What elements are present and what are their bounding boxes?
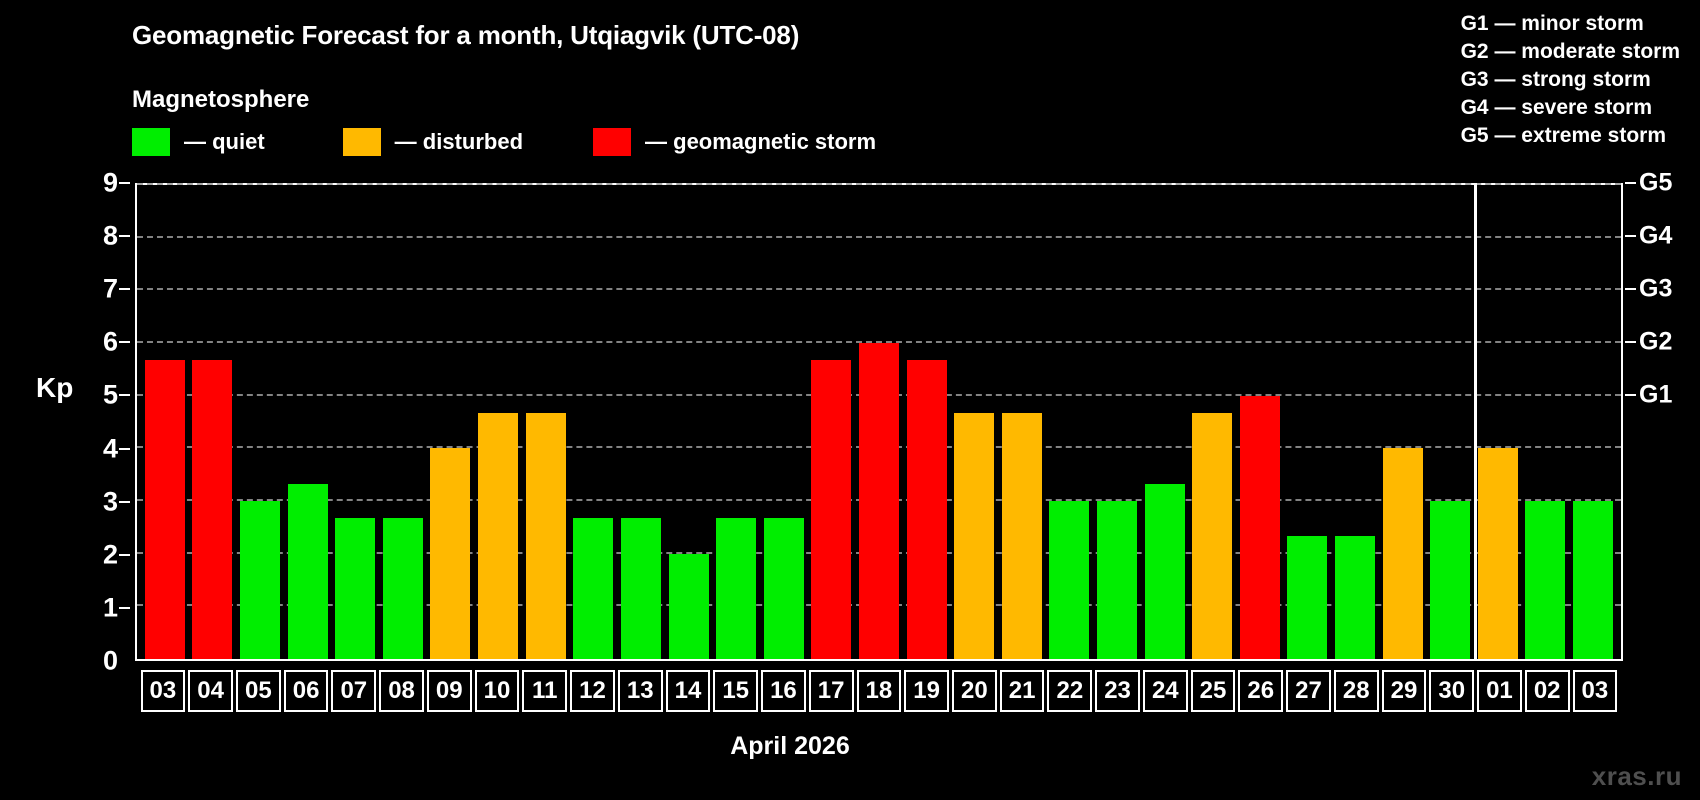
bar-slot[interactable] — [1569, 185, 1617, 659]
y-tick-label-4: 4 — [103, 433, 118, 464]
bar-19-storm[interactable] — [907, 360, 947, 659]
date-label-16[interactable]: 19 — [904, 670, 949, 712]
legend-swatch-disturbed-icon — [343, 128, 381, 156]
bar-18-storm[interactable] — [859, 343, 899, 659]
bar-29-disturbed[interactable] — [1383, 448, 1423, 659]
bar-05-quiet[interactable] — [240, 501, 280, 659]
bar-06-quiet[interactable] — [288, 484, 328, 659]
date-label-3[interactable]: 06 — [284, 670, 329, 712]
bar-25-disturbed[interactable] — [1192, 413, 1232, 659]
bar-slot[interactable] — [331, 185, 379, 659]
y-tick-label-0: 0 — [103, 646, 118, 677]
date-label-28[interactable]: 01 — [1477, 670, 1522, 712]
date-label-0[interactable]: 03 — [141, 670, 186, 712]
bar-slot[interactable] — [808, 185, 856, 659]
y-tick-mark-4 — [119, 448, 130, 450]
bar-slot[interactable] — [1188, 185, 1236, 659]
watermark: xras.ru — [1592, 761, 1682, 792]
bar-slot[interactable] — [1522, 185, 1570, 659]
g-tick-mark-G2 — [1625, 341, 1636, 343]
legend-label-storm: — geomagnetic storm — [645, 129, 876, 155]
legend-label-quiet: — quiet — [184, 129, 265, 155]
g-tick-mark-G4 — [1625, 235, 1636, 237]
bar-12-quiet[interactable] — [573, 518, 613, 659]
g-scale-legend: G1 — minor storm G2 — moderate storm G3 … — [1461, 10, 1680, 150]
bar-08-quiet[interactable] — [383, 518, 423, 659]
legend-item-quiet: — quiet — [132, 128, 265, 156]
bar-15-quiet[interactable] — [716, 518, 756, 659]
bar-13-quiet[interactable] — [621, 518, 661, 659]
bar-slot[interactable] — [760, 185, 808, 659]
magnetosphere-legend: Magnetosphere — quiet — disturbed — geom… — [132, 86, 876, 156]
y-tick-label-5: 5 — [103, 380, 118, 411]
g-tick-label-G3: G3 — [1639, 275, 1672, 304]
bar-slot[interactable] — [855, 185, 903, 659]
bar-27-quiet[interactable] — [1287, 536, 1327, 659]
bar-slot[interactable] — [474, 185, 522, 659]
g-tick-mark-G5 — [1625, 182, 1636, 184]
bar-slot[interactable] — [1236, 185, 1284, 659]
bar-slot[interactable] — [522, 185, 570, 659]
legend-item-storm: — geomagnetic storm — [593, 128, 876, 156]
bar-slot[interactable] — [141, 185, 189, 659]
y-tick-label-7: 7 — [103, 274, 118, 305]
plot-area — [135, 183, 1623, 661]
bar-series — [137, 185, 1621, 659]
date-label-9[interactable]: 12 — [570, 670, 615, 712]
date-label-11[interactable]: 14 — [666, 670, 711, 712]
bar-slot[interactable] — [1046, 185, 1094, 659]
bar-slot[interactable] — [1093, 185, 1141, 659]
y-tick-label-9: 9 — [103, 168, 118, 199]
y-tick-label-2: 2 — [103, 539, 118, 570]
bar-02-quiet[interactable] — [1525, 501, 1565, 659]
bar-01-disturbed[interactable] — [1478, 448, 1518, 659]
date-label-26[interactable]: 29 — [1382, 670, 1427, 712]
date-label-10[interactable]: 13 — [618, 670, 663, 712]
g-scale-line-g1: G1 — minor storm — [1461, 10, 1680, 38]
date-label-20[interactable]: 23 — [1095, 670, 1140, 712]
bar-slot[interactable] — [1474, 185, 1522, 659]
y-tick-label-8: 8 — [103, 221, 118, 252]
y-tick-label-6: 6 — [103, 327, 118, 358]
bar-slot[interactable] — [1284, 185, 1332, 659]
date-label-22[interactable]: 25 — [1191, 670, 1236, 712]
legend-items: — quiet — disturbed — geomagnetic storm — [132, 128, 876, 156]
bar-slot[interactable] — [1331, 185, 1379, 659]
date-label-21[interactable]: 24 — [1143, 670, 1188, 712]
y-tick-mark-2 — [119, 554, 130, 556]
date-label-19[interactable]: 22 — [1047, 670, 1092, 712]
y-tick-mark-7 — [119, 288, 130, 290]
date-label-12[interactable]: 15 — [713, 670, 758, 712]
date-label-5[interactable]: 08 — [379, 670, 424, 712]
y-tick-mark-9 — [119, 182, 130, 184]
bar-slot[interactable] — [1141, 185, 1189, 659]
g-tick-label-G4: G4 — [1639, 222, 1672, 251]
bar-slot[interactable] — [950, 185, 998, 659]
date-label-17[interactable]: 20 — [952, 670, 997, 712]
legend-item-disturbed: — disturbed — [343, 128, 523, 156]
month-divider — [1474, 183, 1477, 661]
bar-26-storm[interactable] — [1240, 396, 1280, 659]
date-label-29[interactable]: 02 — [1525, 670, 1570, 712]
g-tick-label-G5: G5 — [1639, 169, 1672, 198]
bar-07-quiet[interactable] — [335, 518, 375, 659]
y-tick-mark-6 — [119, 341, 130, 343]
date-label-24[interactable]: 27 — [1286, 670, 1331, 712]
bar-slot[interactable] — [379, 185, 427, 659]
date-label-23[interactable]: 26 — [1238, 670, 1283, 712]
date-label-6[interactable]: 09 — [427, 670, 472, 712]
date-label-7[interactable]: 10 — [475, 670, 520, 712]
legend-swatch-storm-icon — [593, 128, 631, 156]
bar-03-quiet[interactable] — [1573, 501, 1613, 659]
y-axis: 0123456789 — [60, 183, 130, 661]
g-tick-label-G2: G2 — [1639, 328, 1672, 357]
date-label-30[interactable]: 03 — [1573, 670, 1618, 712]
bar-slot[interactable] — [1426, 185, 1474, 659]
y-tick-mark-1 — [119, 607, 130, 609]
page-title: Geomagnetic Forecast for a month, Utqiag… — [132, 20, 799, 51]
g-scale-line-g3: G3 — strong storm — [1461, 66, 1680, 94]
g-tick-mark-G3 — [1625, 288, 1636, 290]
bar-slot[interactable] — [569, 185, 617, 659]
bar-14-quiet[interactable] — [669, 554, 709, 659]
date-label-25[interactable]: 28 — [1334, 670, 1379, 712]
bar-slot[interactable] — [427, 185, 475, 659]
y-tick-label-1: 1 — [103, 592, 118, 623]
date-label-8[interactable]: 11 — [522, 670, 567, 712]
bar-24-quiet[interactable] — [1145, 484, 1185, 659]
bar-22-quiet[interactable] — [1049, 501, 1089, 659]
g-scale-line-g2: G2 — moderate storm — [1461, 38, 1680, 66]
g-axis: G1G2G3G4G5 — [1625, 183, 1695, 661]
bar-slot[interactable] — [1379, 185, 1427, 659]
g-tick-mark-G1 — [1625, 394, 1636, 396]
bar-slot[interactable] — [236, 185, 284, 659]
bar-slot[interactable] — [617, 185, 665, 659]
bar-slot[interactable] — [284, 185, 332, 659]
bar-20-disturbed[interactable] — [954, 413, 994, 659]
bar-slot[interactable] — [665, 185, 713, 659]
date-label-13[interactable]: 16 — [761, 670, 806, 712]
date-label-4[interactable]: 07 — [331, 670, 376, 712]
y-tick-label-3: 3 — [103, 486, 118, 517]
bar-09-disturbed[interactable] — [430, 448, 470, 659]
bar-slot[interactable] — [998, 185, 1046, 659]
bar-11-disturbed[interactable] — [526, 413, 566, 659]
bar-28-quiet[interactable] — [1335, 536, 1375, 659]
bar-21-disturbed[interactable] — [1002, 413, 1042, 659]
g-scale-line-g5: G5 — extreme storm — [1461, 122, 1680, 150]
bar-10-disturbed[interactable] — [478, 413, 518, 659]
date-label-18[interactable]: 21 — [1000, 670, 1045, 712]
y-tick-mark-5 — [119, 394, 130, 396]
date-label-1[interactable]: 04 — [188, 670, 233, 712]
bar-03-storm[interactable] — [145, 360, 185, 659]
date-label-15[interactable]: 18 — [857, 670, 902, 712]
y-tick-mark-8 — [119, 235, 130, 237]
bar-slot[interactable] — [189, 185, 237, 659]
bar-04-storm[interactable] — [192, 360, 232, 659]
bar-17-storm[interactable] — [811, 360, 851, 659]
bar-30-quiet[interactable] — [1430, 501, 1470, 659]
bar-16-quiet[interactable] — [764, 518, 804, 659]
bar-23-quiet[interactable] — [1097, 501, 1137, 659]
date-label-2[interactable]: 05 — [236, 670, 281, 712]
date-label-27[interactable]: 30 — [1429, 670, 1474, 712]
bar-slot[interactable] — [712, 185, 760, 659]
legend-label-disturbed: — disturbed — [395, 129, 523, 155]
g-scale-line-g4: G4 — severe storm — [1461, 94, 1680, 122]
legend-swatch-quiet-icon — [132, 128, 170, 156]
x-axis-date-labels: 0304050607080910111213141516171819202122… — [135, 670, 1623, 712]
x-axis-label-text: April 2026 — [730, 732, 850, 760]
bar-slot[interactable] — [903, 185, 951, 659]
legend-heading: Magnetosphere — [132, 86, 876, 114]
y-tick-mark-3 — [119, 501, 130, 503]
g-tick-label-G1: G1 — [1639, 381, 1672, 410]
date-label-14[interactable]: 17 — [809, 670, 854, 712]
x-axis-label: April 2026 — [0, 732, 1700, 761]
